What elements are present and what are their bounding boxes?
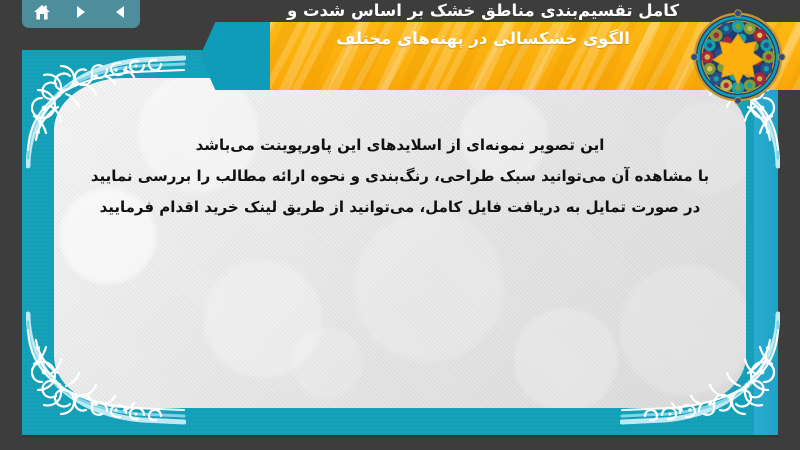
previous-button[interactable] [106, 0, 134, 24]
body-line: این تصویر نمونه‌ای از اسلایدهای این پاور… [60, 130, 740, 161]
slide-body-text: این تصویر نمونه‌ای از اسلایدهای این پاور… [60, 130, 740, 223]
bokeh-circle [620, 264, 746, 396]
body-line: با مشاهده آن می‌توانید سبک طراحی، رنگ‌بن… [60, 161, 740, 192]
medallion-rosette-icon [690, 9, 786, 105]
bokeh-circle [514, 308, 618, 408]
triangle-right-icon [73, 4, 89, 20]
home-icon [33, 4, 51, 21]
navigation-bar[interactable] [22, 0, 140, 28]
home-button[interactable] [28, 0, 56, 24]
frame-right-strip [754, 50, 778, 435]
bokeh-circle [292, 328, 362, 398]
bokeh-circle [354, 212, 504, 362]
next-button[interactable] [67, 0, 95, 24]
slide-canvas: این تصویر نمونه‌ای از اسلایدهای این پاور… [0, 0, 800, 450]
content-panel [54, 78, 746, 408]
triangle-left-icon [112, 4, 128, 20]
body-line: در صورت تمایل به دریافت فایل کامل، می‌تو… [60, 192, 740, 223]
